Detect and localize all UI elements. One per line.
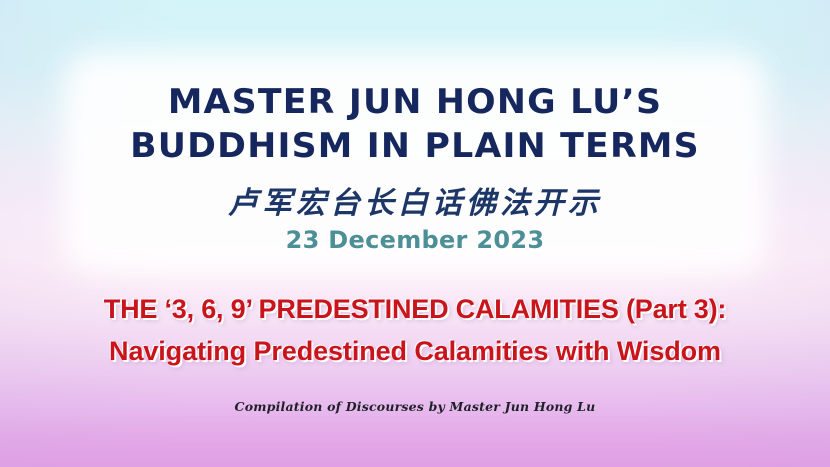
series-title-line-2: BUDDHISM IN PLAIN TERMS [0,126,830,166]
series-title-chinese: 卢军宏台长白话佛法开示 [0,178,830,222]
topic-title-line-2: Navigating Predestined Calamities with W… [0,336,830,367]
title-slide: MASTER JUN HONG LU’S BUDDHISM IN PLAIN T… [0,0,830,467]
compilation-credit: Compilation of Discourses by Master Jun … [0,399,830,414]
series-title-line-1: MASTER JUN HONG LU’S [0,82,830,122]
discourse-date: 23 December 2023 [0,226,830,254]
slide-content: MASTER JUN HONG LU’S BUDDHISM IN PLAIN T… [0,0,830,467]
topic-title-line-1: THE ‘3, 6, 9’ PREDESTINED CALAMITIES (Pa… [0,294,830,325]
